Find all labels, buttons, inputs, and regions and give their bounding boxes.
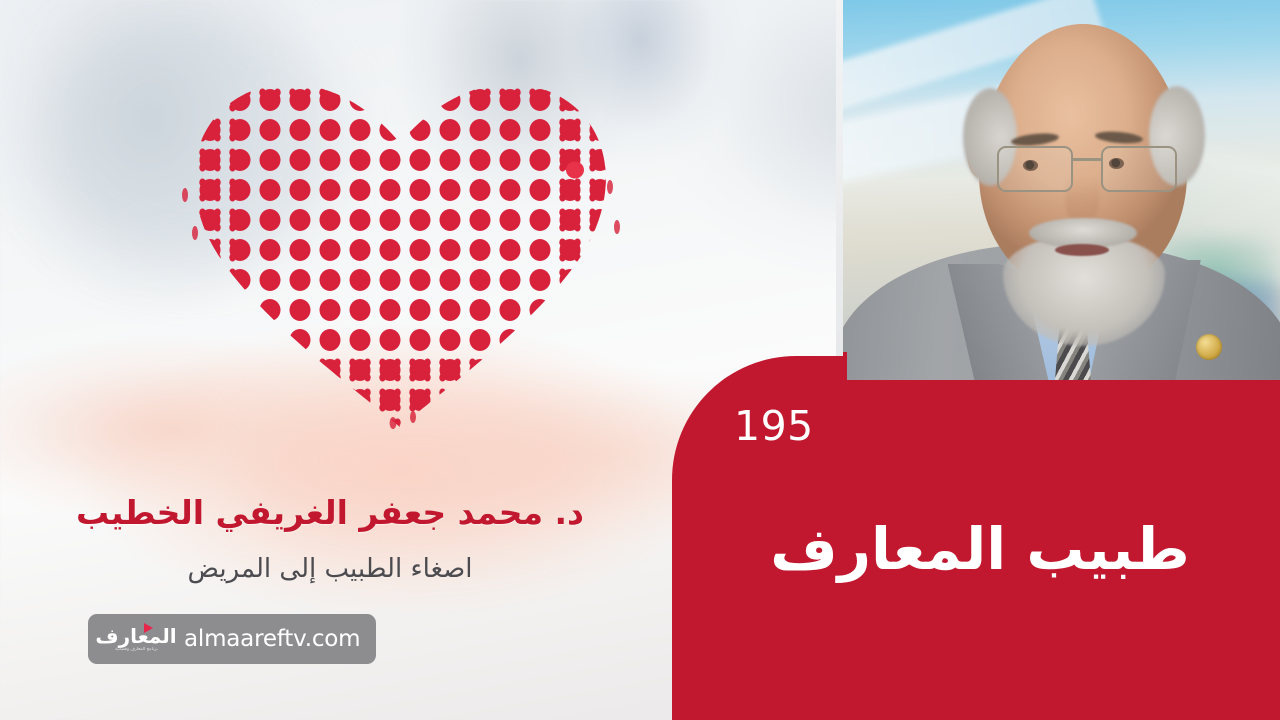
halftone-heart-icon <box>165 55 635 435</box>
episode-topic: اصغاء الطبيب إلى المريض <box>0 554 660 585</box>
logo-tagline: برنامج المعارف وفضائية <box>115 648 158 653</box>
heart-accent-dot <box>566 162 584 179</box>
eyeglass-lens <box>1101 146 1177 192</box>
episode-number: 195 <box>734 406 814 447</box>
website-url[interactable]: almaareftv.com <box>184 626 360 652</box>
photo-seam <box>836 0 843 356</box>
eyeglass-bridge <box>1071 158 1103 161</box>
website-badge[interactable]: المعارف برنامج المعارف وفضائية almaareft… <box>88 614 376 664</box>
almaaref-logo: المعارف برنامج المعارف وفضائية <box>100 622 172 656</box>
logo-wordmark: المعارف <box>95 626 176 646</box>
eyeglasses-icon <box>995 146 1179 190</box>
play-triangle-icon <box>144 623 153 633</box>
lapel-pin-icon <box>1196 334 1222 360</box>
eyeglass-lens <box>997 146 1073 192</box>
guest-photo <box>843 0 1280 380</box>
show-title: طبيب المعارف <box>700 518 1260 582</box>
guest-name: د. محمد جعفر الغريفي الخطيب <box>0 494 660 532</box>
broadcast-lower-third-card: د. محمد جعفر الغريفي الخطيب اصغاء الطبيب… <box>0 0 1280 720</box>
guest-mouth <box>1055 244 1109 256</box>
photo-corner-accent <box>843 352 847 380</box>
